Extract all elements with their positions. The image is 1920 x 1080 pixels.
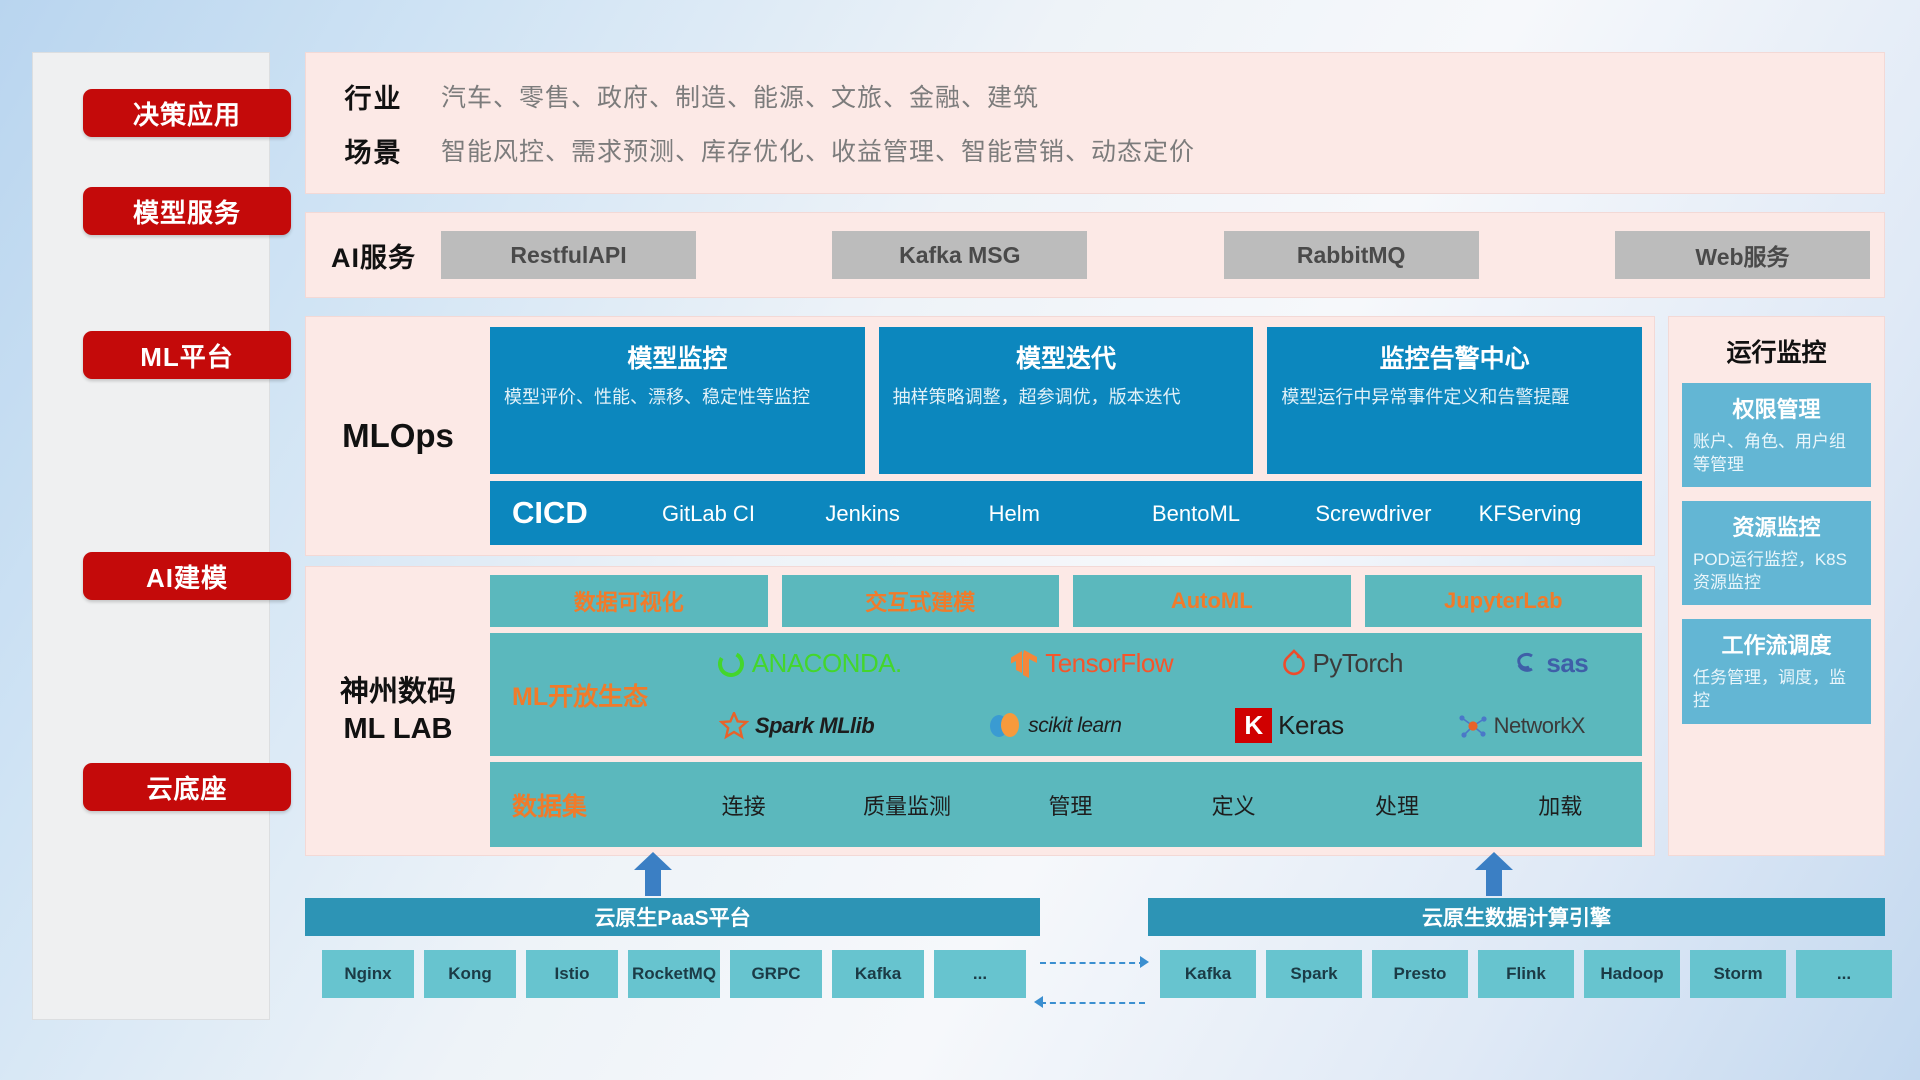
monitoring-card[interactable]: 工作流调度 任务管理，调度，监控 bbox=[1682, 619, 1871, 723]
scenario-value: 智能风控、需求预测、库存优化、收益管理、智能营销、动态定价 bbox=[441, 132, 1195, 168]
monitoring-card-desc: POD运行监控，K8S资源监控 bbox=[1693, 549, 1860, 594]
arrow-up-compute-icon bbox=[1475, 852, 1513, 896]
industry-row: 行业 汽车、零售、政府、制造、能源、文旅、金融、建筑 bbox=[306, 71, 1884, 121]
cloud-chip[interactable]: Hadoop bbox=[1584, 950, 1680, 998]
keras-logo: K Keras bbox=[1235, 708, 1343, 743]
ai-service-box[interactable]: RestfulAPI bbox=[441, 231, 696, 279]
dataset-label: 数据集 bbox=[512, 787, 662, 823]
anaconda-logo: ANACONDA. bbox=[716, 648, 902, 679]
cloud-chip[interactable]: Spark bbox=[1266, 950, 1362, 998]
rail-item-model-service[interactable]: 模型服务 bbox=[83, 187, 291, 235]
ai-service-box[interactable]: RabbitMQ bbox=[1224, 231, 1479, 279]
cicd-item[interactable]: Jenkins bbox=[825, 502, 988, 525]
monitoring-card-title: 工作流调度 bbox=[1693, 628, 1860, 660]
industry-value: 汽车、零售、政府、制造、能源、文旅、金融、建筑 bbox=[441, 78, 1039, 114]
arrow-up-paas-icon bbox=[634, 852, 672, 896]
cicd-item[interactable]: BentoML bbox=[1152, 502, 1315, 525]
ai-service-box-list: RestfulAPI Kafka MSG RabbitMQ Web服务 bbox=[441, 231, 1884, 279]
cicd-item-list: GitLab CI Jenkins Helm BentoML Screwdriv… bbox=[662, 502, 1642, 525]
mlops-key: MLOps bbox=[306, 317, 490, 555]
ml-ecosystem-logos: ANACONDA. TensorFlow bbox=[662, 634, 1642, 756]
tensorflow-logo: TensorFlow bbox=[1009, 648, 1173, 680]
mlops-band: MLOps 模型监控 模型评价、性能、漂移、稳定性等监控 模型迭代 抽样策略调整… bbox=[305, 316, 1655, 556]
mlops-card-title: 模型监控 bbox=[504, 339, 851, 375]
mlops-card[interactable]: 模型监控 模型评价、性能、漂移、稳定性等监控 bbox=[490, 327, 865, 474]
keras-label: Keras bbox=[1278, 710, 1343, 741]
ml-ecosystem-logo-row-1: ANACONDA. TensorFlow bbox=[662, 634, 1642, 694]
cloud-chip[interactable]: Kong bbox=[424, 950, 516, 998]
rail-item-decision[interactable]: 决策应用 bbox=[83, 89, 291, 137]
cloud-chip[interactable]: Kafka bbox=[1160, 950, 1256, 998]
dataset-item-list: 连接 质量监测 管理 定义 处理 加载 bbox=[662, 789, 1642, 821]
mlops-card-desc: 抽样策略调整，超参调优，版本迭代 bbox=[893, 385, 1240, 411]
ai-service-band: AI服务 RestfulAPI Kafka MSG RabbitMQ Web服务 bbox=[305, 212, 1885, 298]
ml-lab-content: 数据可视化 交互式建模 AutoML JupyterLab ML开放生态 ANA… bbox=[490, 567, 1654, 855]
sas-logo: sas bbox=[1510, 648, 1588, 679]
cicd-item[interactable]: Helm bbox=[989, 502, 1152, 525]
layer-rail: 决策应用 模型服务 ML平台 AI建模 云底座 bbox=[32, 52, 270, 1020]
spark-mllib-label: Spark MLlib bbox=[755, 713, 874, 739]
ml-lab-tab-list: 数据可视化 交互式建模 AutoML JupyterLab bbox=[490, 575, 1642, 627]
networkx-icon bbox=[1458, 712, 1488, 740]
mlops-card-title: 模型迭代 bbox=[893, 339, 1240, 375]
dataset-item[interactable]: 质量监测 bbox=[825, 789, 988, 821]
cloud-chip[interactable]: Nginx bbox=[322, 950, 414, 998]
networkx-logo: NetworkX bbox=[1458, 712, 1585, 740]
ml-lab-band: 神州数码 ML LAB 数据可视化 交互式建模 AutoML JupyterLa… bbox=[305, 566, 1655, 856]
ml-lab-tab[interactable]: AutoML bbox=[1073, 575, 1351, 627]
ml-lab-key: 神州数码 ML LAB bbox=[306, 567, 490, 855]
scikit-learn-logo: scikit learn bbox=[988, 711, 1121, 741]
ml-lab-tab[interactable]: 数据可视化 bbox=[490, 575, 768, 627]
ml-ecosystem-label: ML开放生态 bbox=[512, 677, 662, 713]
monitoring-card-desc: 账户、角色、用户组等管理 bbox=[1693, 431, 1860, 476]
cloud-chip[interactable]: ... bbox=[934, 950, 1026, 998]
cloud-chip[interactable]: Storm bbox=[1690, 950, 1786, 998]
cloud-chip[interactable]: Kafka bbox=[832, 950, 924, 998]
industry-scenario-band: 行业 汽车、零售、政府、制造、能源、文旅、金融、建筑 场景 智能风控、需求预测、… bbox=[305, 52, 1885, 194]
cloud-chip[interactable]: RocketMQ bbox=[628, 950, 720, 998]
monitoring-card[interactable]: 权限管理 账户、角色、用户组等管理 bbox=[1682, 383, 1871, 487]
connector-left-arrow-icon bbox=[1034, 996, 1043, 1008]
rail-item-ml-platform[interactable]: ML平台 bbox=[83, 331, 291, 379]
tensorflow-icon bbox=[1009, 648, 1039, 680]
runtime-monitoring-panel: 运行监控 权限管理 账户、角色、用户组等管理 资源监控 POD运行监控，K8S资… bbox=[1668, 316, 1885, 856]
spark-icon bbox=[719, 712, 749, 740]
rail-item-cloud-base[interactable]: 云底座 bbox=[83, 763, 291, 811]
monitoring-card-title: 资源监控 bbox=[1693, 510, 1860, 542]
cicd-title: CICD bbox=[512, 495, 662, 531]
cloud-chip[interactable]: ... bbox=[1796, 950, 1892, 998]
pytorch-icon bbox=[1281, 649, 1307, 679]
cloud-chip[interactable]: Istio bbox=[526, 950, 618, 998]
ai-service-key: AI服务 bbox=[306, 236, 441, 275]
mlops-card-list: 模型监控 模型评价、性能、漂移、稳定性等监控 模型迭代 抽样策略调整，超参调优，… bbox=[490, 327, 1642, 474]
cloud-chip[interactable]: Presto bbox=[1372, 950, 1468, 998]
industry-key: 行业 bbox=[306, 77, 441, 116]
sas-label: sas bbox=[1546, 648, 1588, 679]
connector-right-arrow-icon bbox=[1140, 956, 1149, 968]
anaconda-icon bbox=[716, 649, 746, 679]
dataset-item[interactable]: 处理 bbox=[1315, 789, 1478, 821]
dataset-row: 数据集 连接 质量监测 管理 定义 处理 加载 bbox=[490, 762, 1642, 847]
ml-lab-tab[interactable]: JupyterLab bbox=[1365, 575, 1643, 627]
mlops-card-desc: 模型评价、性能、漂移、稳定性等监控 bbox=[504, 385, 851, 411]
networkx-label: NetworkX bbox=[1494, 713, 1585, 739]
dataset-item[interactable]: 定义 bbox=[1152, 789, 1315, 821]
dataset-item[interactable]: 管理 bbox=[989, 789, 1152, 821]
cloud-chip[interactable]: Flink bbox=[1478, 950, 1574, 998]
mlops-card[interactable]: 监控告警中心 模型运行中异常事件定义和告警提醒 bbox=[1267, 327, 1642, 474]
runtime-monitoring-title: 运行监控 bbox=[1682, 333, 1871, 369]
diagram-canvas: 决策应用 模型服务 ML平台 AI建模 云底座 行业 汽车、零售、政府、制造、能… bbox=[0, 0, 1920, 1080]
mlops-content: 模型监控 模型评价、性能、漂移、稳定性等监控 模型迭代 抽样策略调整，超参调优，… bbox=[490, 317, 1654, 555]
cloud-chip[interactable]: GRPC bbox=[730, 950, 822, 998]
connector-right-dashed bbox=[1040, 962, 1145, 964]
dataset-item[interactable]: 加载 bbox=[1479, 789, 1642, 821]
rail-item-ai-modeling[interactable]: AI建模 bbox=[83, 552, 291, 600]
scikit-learn-label: scikit learn bbox=[1028, 714, 1121, 738]
cloud-paas-header: 云原生PaaS平台 bbox=[305, 898, 1040, 936]
mlops-card-title: 监控告警中心 bbox=[1281, 339, 1628, 375]
cloud-compute-header: 云原生数据计算引擎 bbox=[1148, 898, 1885, 936]
mlops-card[interactable]: 模型迭代 抽样策略调整，超参调优，版本迭代 bbox=[879, 327, 1254, 474]
monitoring-card-title: 权限管理 bbox=[1693, 392, 1860, 424]
cicd-item[interactable]: GitLab CI bbox=[662, 502, 825, 525]
scenario-key: 场景 bbox=[306, 131, 441, 170]
ml-ecosystem-logo-row-2: Spark MLlib scikit learn K Keras bbox=[662, 696, 1642, 756]
cicd-item[interactable]: Screwdriver bbox=[1315, 502, 1478, 525]
ml-lab-tab[interactable]: 交互式建模 bbox=[782, 575, 1060, 627]
ml-lab-key-line1: 神州数码 bbox=[340, 674, 456, 711]
connector-left-dashed bbox=[1040, 1002, 1145, 1004]
ml-ecosystem-row: ML开放生态 ANACONDA. bbox=[490, 633, 1642, 756]
monitoring-card-desc: 任务管理，调度，监控 bbox=[1693, 667, 1860, 712]
pytorch-label: PyTorch bbox=[1313, 648, 1403, 679]
anaconda-label: ANACONDA. bbox=[752, 648, 902, 679]
scenario-row: 场景 智能风控、需求预测、库存优化、收益管理、智能营销、动态定价 bbox=[306, 125, 1884, 175]
scikit-learn-icon bbox=[988, 711, 1022, 741]
monitoring-card[interactable]: 资源监控 POD运行监控，K8S资源监控 bbox=[1682, 501, 1871, 605]
cicd-item[interactable]: KFServing bbox=[1479, 502, 1642, 525]
sas-icon bbox=[1510, 649, 1540, 679]
tensorflow-label: TensorFlow bbox=[1045, 648, 1173, 679]
pytorch-logo: PyTorch bbox=[1281, 648, 1403, 679]
cloud-paas-chip-list: Nginx Kong Istio RocketMQ GRPC Kafka ... bbox=[322, 950, 1026, 998]
spark-mllib-logo: Spark MLlib bbox=[719, 712, 874, 740]
ai-service-box[interactable]: Web服务 bbox=[1615, 231, 1870, 279]
ml-lab-key-line2: ML LAB bbox=[343, 711, 452, 748]
keras-icon: K bbox=[1235, 708, 1272, 743]
dataset-item[interactable]: 连接 bbox=[662, 789, 825, 821]
ai-service-box[interactable]: Kafka MSG bbox=[832, 231, 1087, 279]
mlops-card-desc: 模型运行中异常事件定义和告警提醒 bbox=[1281, 385, 1628, 411]
cicd-bar: CICD GitLab CI Jenkins Helm BentoML Scre… bbox=[490, 481, 1642, 545]
cloud-compute-chip-list: Kafka Spark Presto Flink Hadoop Storm ..… bbox=[1160, 950, 1892, 998]
